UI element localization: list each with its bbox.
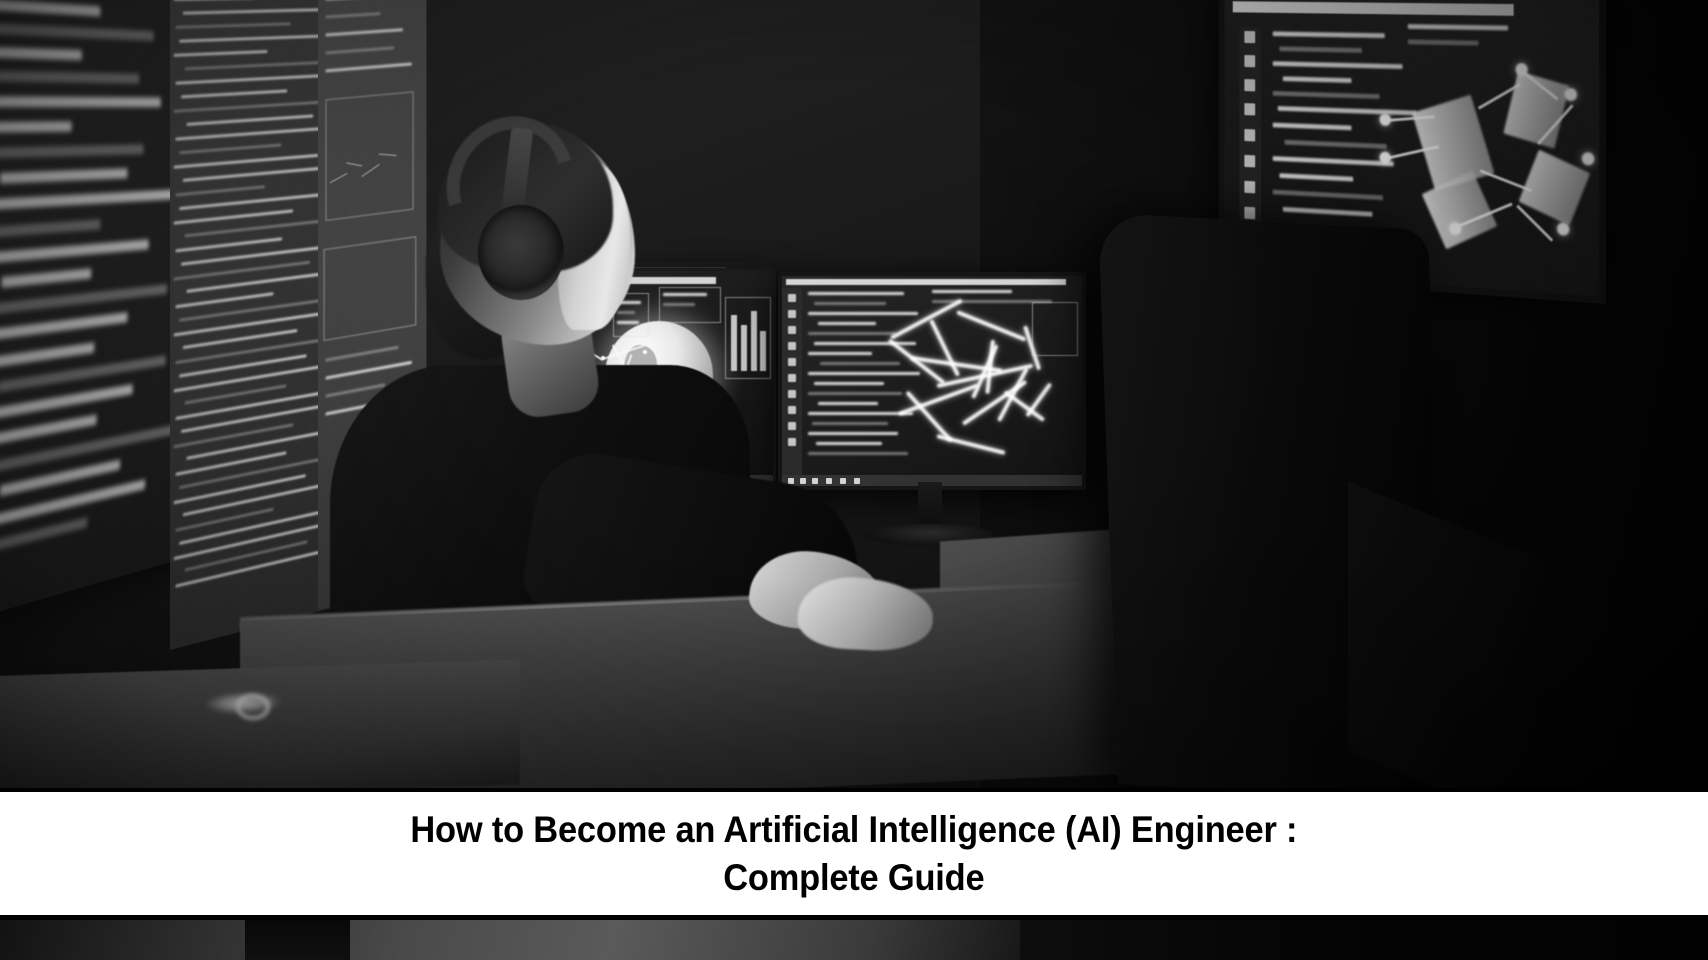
bottom-strip-desk (0, 920, 1020, 960)
right-sidebar-icon-2 (1244, 55, 1255, 67)
page-root: How to Become an Artificial Intelligence… (0, 0, 1708, 960)
center-mesh-monitor (778, 272, 1086, 490)
right-sidebar-icon-6 (1244, 155, 1255, 168)
right-sidebar-icon-8 (1244, 207, 1255, 220)
article-title: How to Become an Artificial Intelligence… (355, 806, 1354, 901)
right-sidebar-icon-1 (1244, 31, 1255, 43)
bottom-strip-shadow (245, 920, 350, 960)
article-title-band: How to Become an Artificial Intelligence… (0, 788, 1708, 920)
bottom-strip-chair (1020, 920, 1708, 960)
right-sidebar-icon-4 (1244, 103, 1255, 115)
center-mesh-monitor-stand (918, 482, 942, 530)
right-sidebar-icon-3 (1244, 79, 1255, 91)
hero-photo (0, 0, 1708, 788)
right-sidebar-icon-7 (1244, 181, 1255, 194)
right-sidebar-icon-5 (1244, 129, 1255, 141)
laptop-logo-icon (236, 694, 270, 720)
laptop-device (0, 660, 520, 788)
hero-photo-bottom-strip (0, 920, 1708, 960)
headphones-earcup (478, 205, 564, 300)
node-graph-visualization (1401, 45, 1600, 278)
center-mesh-monitor-screen (782, 276, 1082, 486)
